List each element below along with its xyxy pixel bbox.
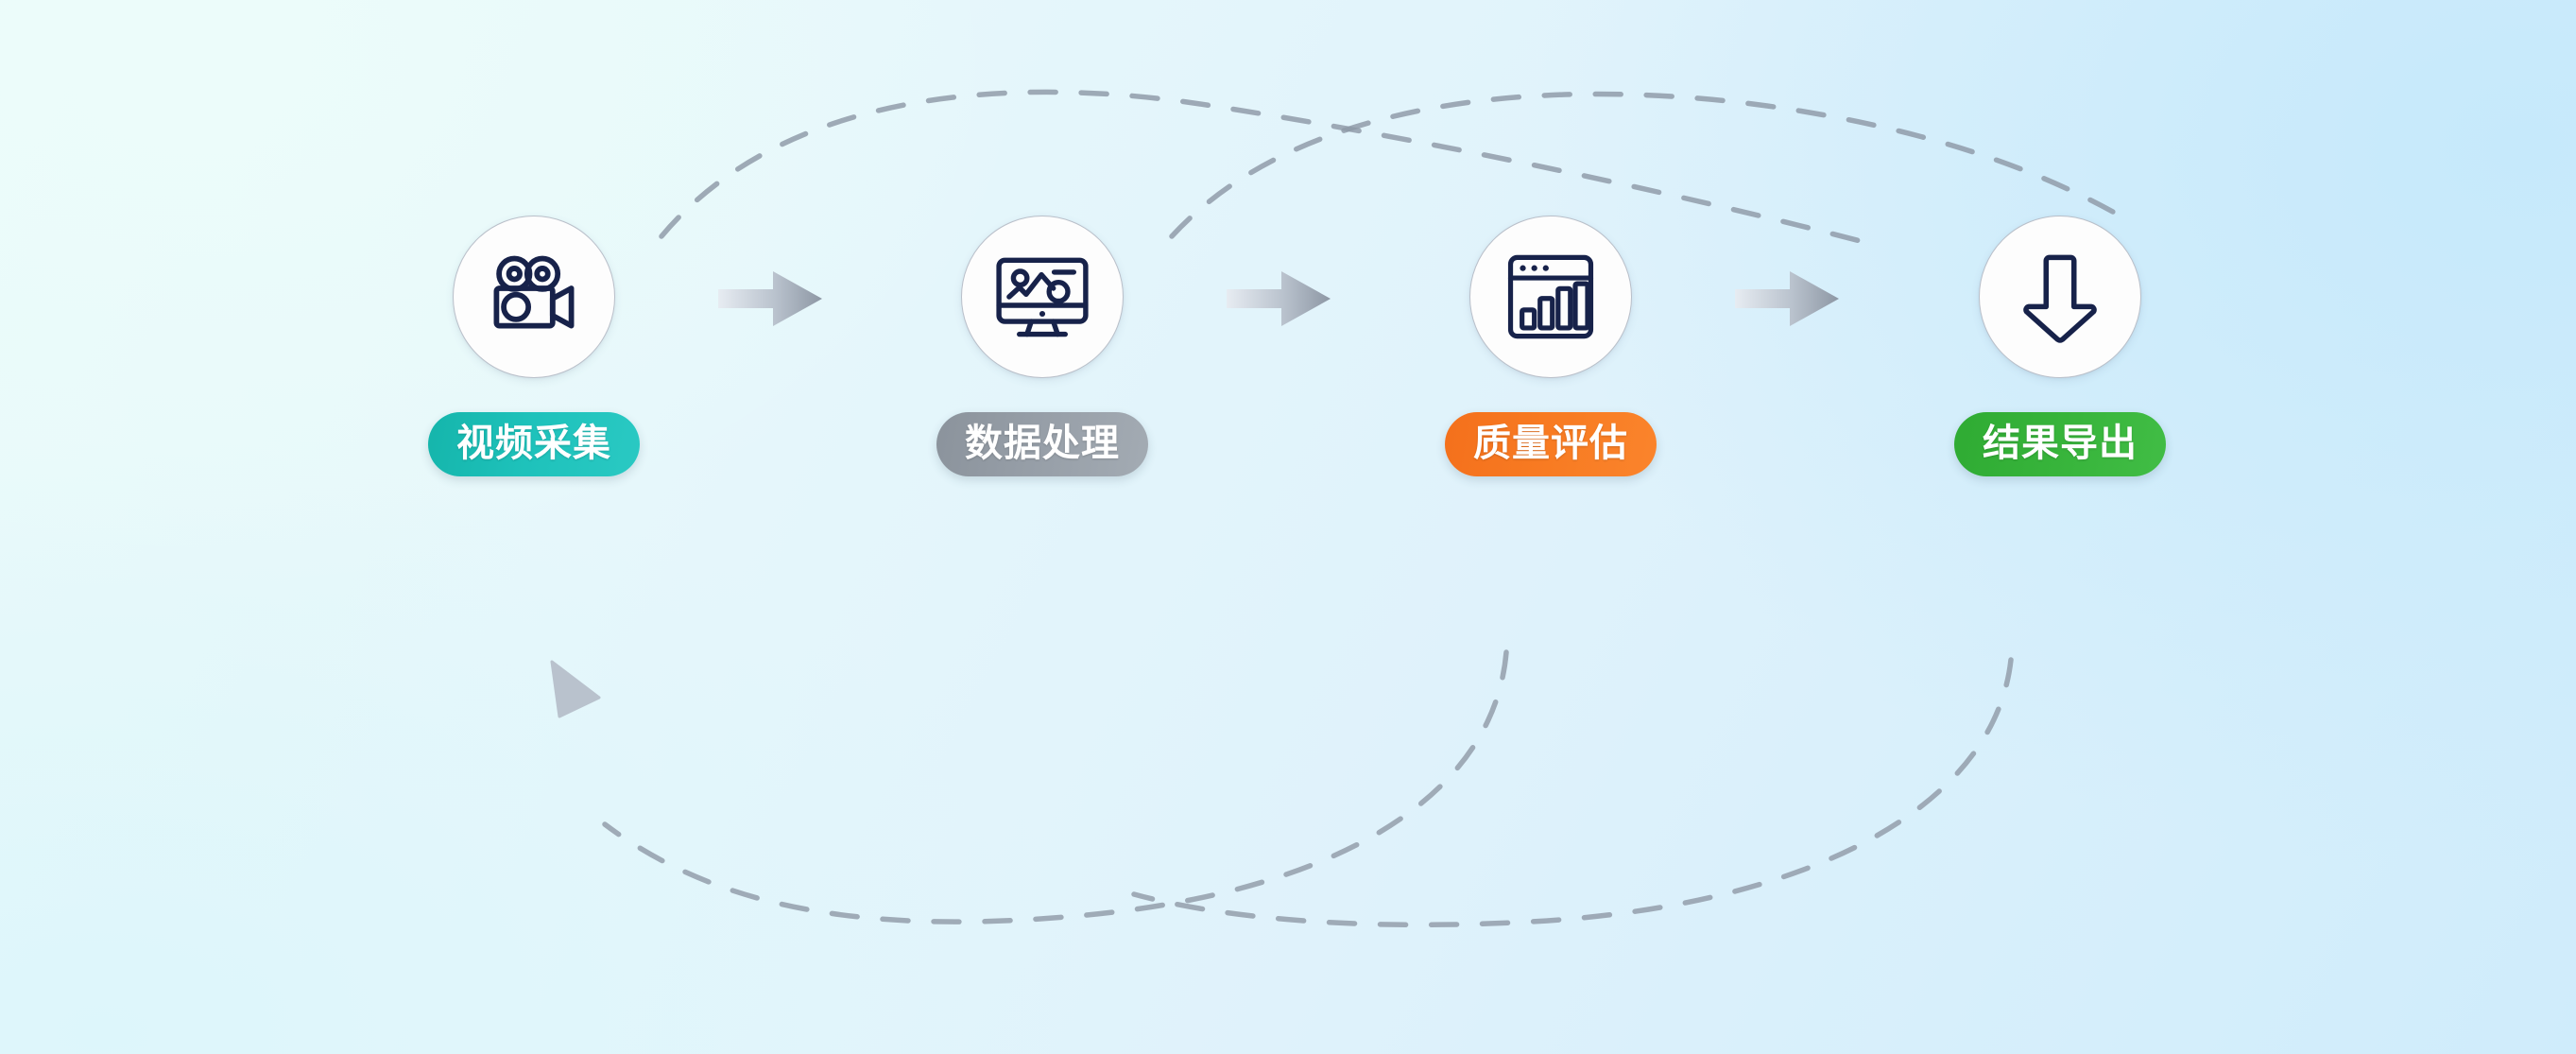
- step-node-1[interactable]: 视频采集: [392, 216, 676, 476]
- monitor-image-icon: [991, 246, 1093, 348]
- step-node-2[interactable]: 数据处理: [901, 216, 1184, 476]
- step-node-3[interactable]: 质量评估: [1409, 216, 1692, 476]
- step-1-label[interactable]: 视频采集: [428, 412, 640, 476]
- arrow-down-shape: [2026, 257, 2094, 340]
- step-2-icon-circle[interactable]: [961, 216, 1124, 378]
- step-4-label[interactable]: 结果导出: [1954, 412, 2166, 476]
- step-1-icon-circle[interactable]: [453, 216, 615, 378]
- step-4-icon-circle[interactable]: [1979, 216, 2141, 378]
- step-3-label[interactable]: 质量评估: [1445, 412, 1657, 476]
- step-3-icon-circle[interactable]: [1469, 216, 1632, 378]
- step-node-4[interactable]: 结果导出: [1918, 216, 2202, 476]
- browser-bar-chart-icon: [1502, 248, 1600, 346]
- video-camera-icon: [483, 246, 585, 348]
- flow-diagram: 视频采集 数据: [0, 0, 2576, 1054]
- step-2-label[interactable]: 数据处理: [936, 412, 1148, 476]
- download-arrow-icon: [2011, 248, 2109, 346]
